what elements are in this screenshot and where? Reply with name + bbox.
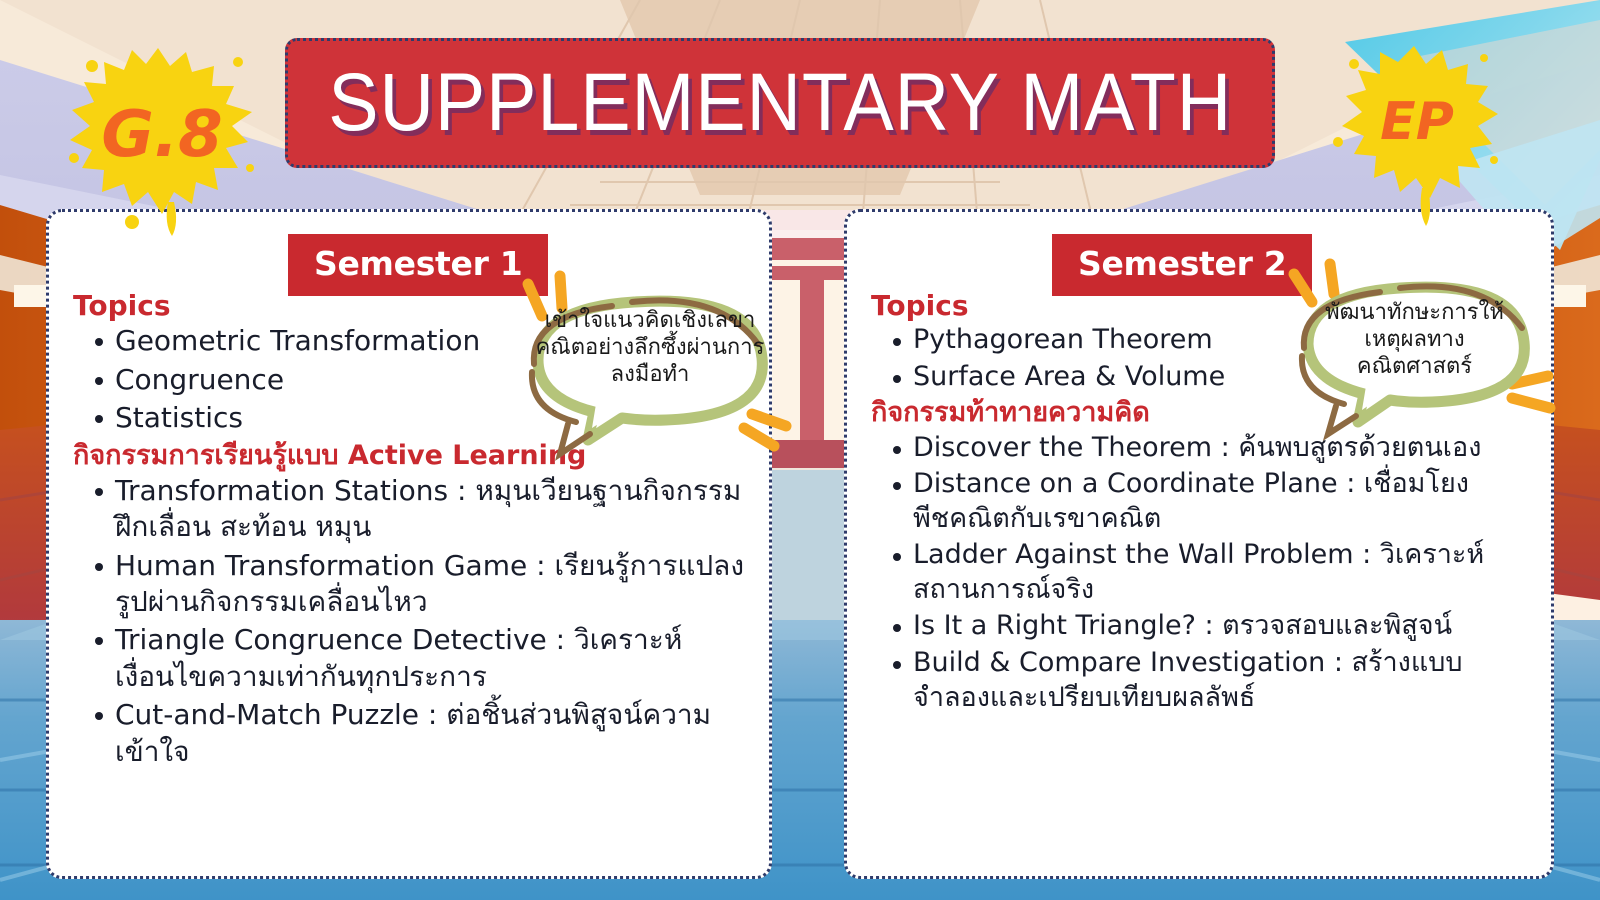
page-title: SUPPLEMENTARY MATH: [328, 56, 1232, 150]
orange-accent-strokes: [1294, 264, 1334, 302]
semester-2-callout-text: พัฒนาทักษะการให้เหตุผลทางคณิตศาสตร์: [1312, 300, 1517, 380]
list-item: Build & Compare Investigation : สร้างแบบ…: [871, 646, 1533, 715]
semester-1-callout-text: เข้าใจแนวคิดเชิงเลขาคณิตอย่างลึกซึ้งผ่าน…: [534, 308, 766, 388]
list-item: Cut-and-Match Puzzle : ต่อชิ้นส่วนพิสูจน…: [73, 697, 751, 770]
semester-2-callout-bubble: พัฒนาทักษะการให้เหตุผลทางคณิตศาสตร์: [1272, 258, 1560, 438]
semester-1-callout-bubble: เข้าใจแนวคิดเชิงเลขาคณิตอย่างลึกซึ้งผ่าน…: [498, 268, 798, 458]
grade-badge: G.8: [62, 42, 262, 227]
semester-2-band-label: Semester 2: [1078, 244, 1286, 283]
list-item: Human Transformation Game : เรียนรู้การแ…: [73, 548, 751, 621]
list-item: Distance on a Coordinate Plane : เชื่อมโ…: [871, 467, 1533, 536]
grade-badge-label: G.8: [101, 98, 222, 172]
list-item: Transformation Stations : หมุนเวียนฐานกิ…: [73, 473, 751, 546]
challenge-activities-list: Discover the Theorem : ค้นพบสูตรด้วยตนเอ…: [871, 431, 1533, 715]
list-item: Ladder Against the Wall Problem : วิเครา…: [871, 538, 1533, 607]
program-badge-label: EP: [1380, 92, 1454, 152]
program-badge-text: EP: [1332, 42, 1502, 202]
list-item: Triangle Congruence Detective : วิเคราะห…: [73, 622, 751, 695]
semester-1-band-label: Semester 1: [314, 244, 522, 283]
grade-badge-text: G.8: [62, 42, 262, 227]
program-badge: EP: [1332, 42, 1502, 202]
list-item: Is It a Right Triangle? : ตรวจสอบและพิสู…: [871, 609, 1533, 644]
page-title-banner: SUPPLEMENTARY MATH: [285, 38, 1275, 168]
active-learning-list: Transformation Stations : หมุนเวียนฐานกิ…: [73, 473, 751, 770]
